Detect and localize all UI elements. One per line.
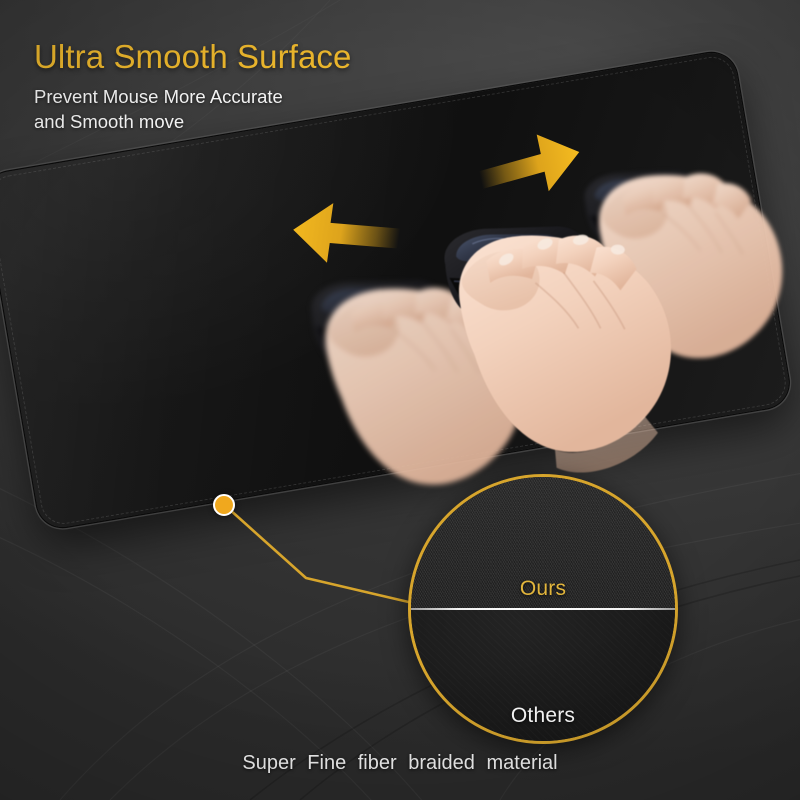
ours-label: Ours (411, 577, 675, 601)
subtitle-line-1: Prevent Mouse More Accurate (34, 84, 283, 109)
page-title: Ultra Smooth Surface (34, 38, 351, 76)
subtitle-line-2: and Smooth move (34, 109, 283, 134)
arrow-right-icon (478, 130, 588, 210)
comparison-divider-line (411, 608, 675, 610)
page-subtitle: Prevent Mouse More Accurate and Smooth m… (34, 84, 283, 134)
others-label: Others (411, 704, 675, 728)
product-feature-image: Ours Others Ultra Smooth Surface Prevent… (0, 0, 800, 800)
material-caption: Super Fine fiber braided material (0, 752, 800, 775)
callout-marker-dot[interactable] (213, 494, 235, 516)
arrow-left-icon (285, 195, 405, 275)
material-comparison-zoom-circle: Ours Others (408, 474, 678, 744)
